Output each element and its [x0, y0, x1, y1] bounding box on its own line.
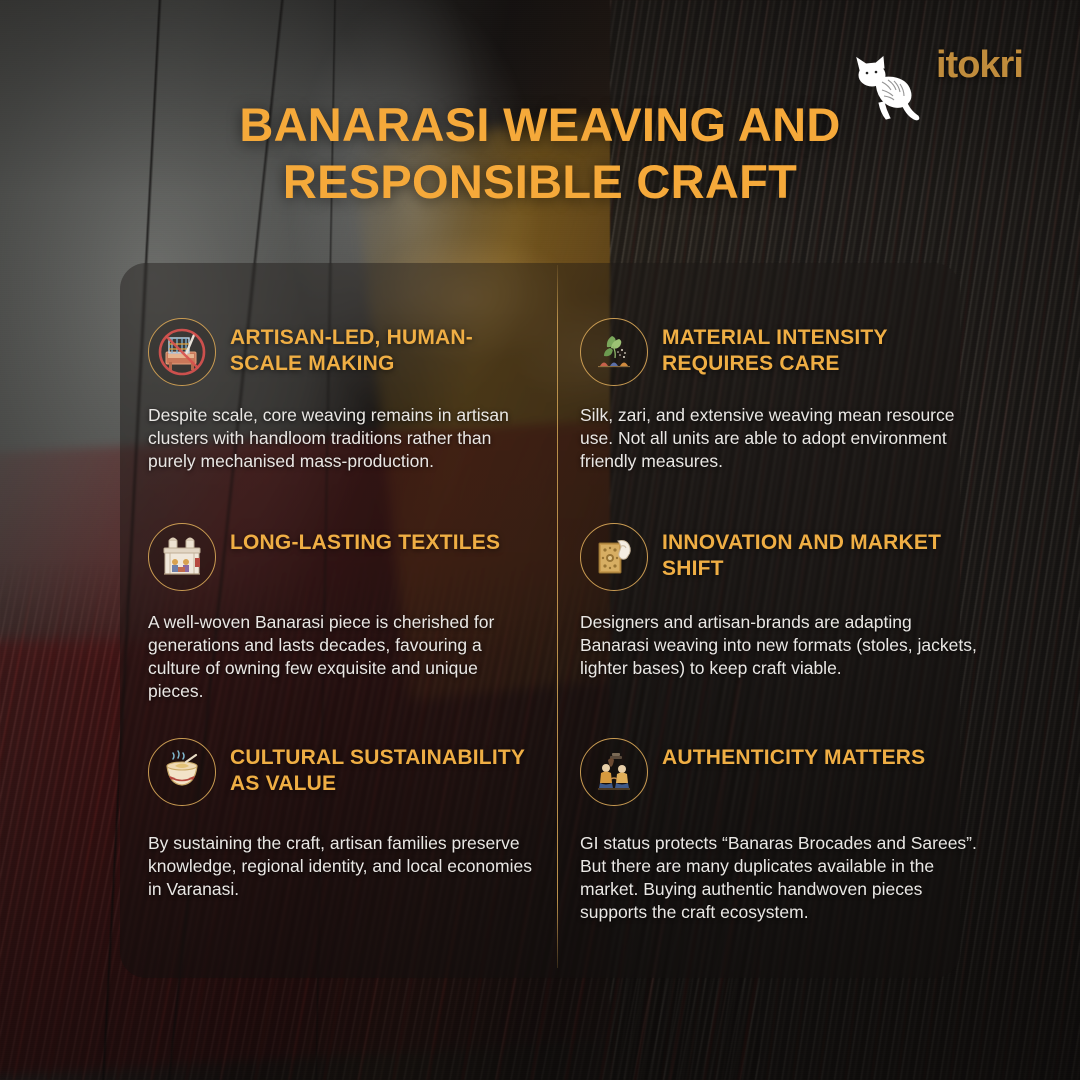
- page-title-line-2: RESPONSIBLE CRAFT: [0, 153, 1080, 210]
- infographic-canvas: BANARASI WEAVING AND RESPONSIBLE CRAFT i…: [0, 0, 1080, 1080]
- card-innovation-market-shift: INNOVATION AND MARKET SHIFT Designers an…: [580, 523, 980, 680]
- card-header: INNOVATION AND MARKET SHIFT: [580, 523, 980, 591]
- two-seated-artisans-icon: [580, 738, 648, 806]
- card-title: CULTURAL SUSTAINABILITY AS VALUE: [230, 738, 548, 796]
- page-title-line-1: BANARASI WEAVING AND: [239, 98, 840, 151]
- card-title: LONG-LASTING TEXTILES: [230, 523, 500, 556]
- leaves-and-dye-powders-icon: [580, 318, 648, 386]
- cat-illustration-icon: [846, 52, 928, 124]
- card-body: A well-woven Banarasi piece is cherished…: [148, 611, 538, 703]
- card-title: MATERIAL INTENSITY REQUIRES CARE: [662, 318, 988, 376]
- card-body: Designers and artisan-brands are adaptin…: [580, 611, 980, 680]
- card-body: By sustaining the craft, artisan familie…: [148, 832, 548, 901]
- card-artisan-led: ARTISAN-LED, HUMAN-SCALE MAKING Despite …: [148, 318, 538, 473]
- card-title: ARTISAN-LED, HUMAN-SCALE MAKING: [230, 318, 538, 376]
- card-cultural-sustainability: CULTURAL SUSTAINABILITY AS VALUE By sust…: [148, 738, 548, 901]
- card-header: MATERIAL INTENSITY REQUIRES CARE: [580, 318, 988, 386]
- brand-logo-text: itokri: [936, 42, 1040, 88]
- card-title: AUTHENTICITY MATTERS: [662, 738, 925, 771]
- card-authenticity-matters: AUTHENTICITY MATTERS GI status protects …: [580, 738, 990, 924]
- card-long-lasting-textiles: LONG-LASTING TEXTILES A well-woven Banar…: [148, 523, 538, 703]
- card-title: INNOVATION AND MARKET SHIFT: [662, 523, 980, 581]
- card-body: Silk, zari, and extensive weaving mean r…: [580, 404, 988, 473]
- card-material-intensity: MATERIAL INTENSITY REQUIRES CARE Silk, z…: [580, 318, 988, 473]
- card-body: Despite scale, core weaving remains in a…: [148, 404, 538, 473]
- brand-logo[interactable]: itokri: [936, 42, 1040, 88]
- artisan-shop-building-icon: [148, 523, 216, 591]
- hand-holding-brocade-icon: [580, 523, 648, 591]
- card-header: CULTURAL SUSTAINABILITY AS VALUE: [148, 738, 548, 806]
- card-header: ARTISAN-LED, HUMAN-SCALE MAKING: [148, 318, 538, 386]
- no-power-loom-icon: [148, 318, 216, 386]
- card-header: LONG-LASTING TEXTILES: [148, 523, 538, 591]
- card-header: AUTHENTICITY MATTERS: [580, 738, 990, 806]
- card-body: GI status protects “Banaras Brocades and…: [580, 832, 990, 924]
- column-divider: [557, 265, 558, 968]
- steaming-dye-pot-icon: [148, 738, 216, 806]
